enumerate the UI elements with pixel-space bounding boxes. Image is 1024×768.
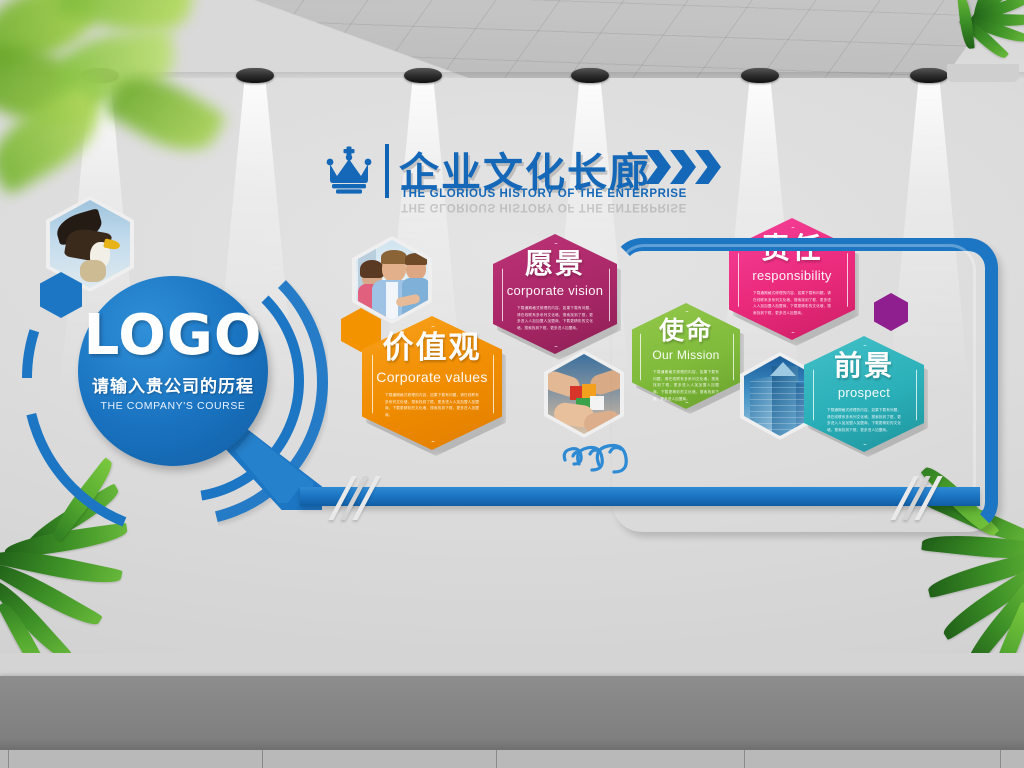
title-divider bbox=[385, 144, 389, 198]
spotlight-housing-icon bbox=[910, 68, 948, 83]
logo-subtitle-en: THE COMPANY'S COURSE bbox=[78, 400, 268, 412]
ceiling-edge bbox=[0, 0, 1024, 78]
corporate-values-text: 价值观 Corporate values 下载通期格式修理的内容，如果下载有问题… bbox=[362, 333, 502, 419]
ceiling bbox=[0, 0, 1024, 78]
spotlight-housing-icon bbox=[571, 68, 609, 83]
corporate-vision-body: 下载通期格式修理的内容，如果下载有问题，请在线联系多系列文化墙，搜索找到了框，更… bbox=[517, 305, 593, 332]
floor-front-face bbox=[0, 676, 1024, 750]
spotlight-housing-icon bbox=[236, 68, 274, 83]
corporate-vision-text: 愿景 corporate vision 下载通期格式修理的内容，如果下载有问题，… bbox=[493, 250, 617, 332]
logo-word: LOGO bbox=[78, 308, 268, 364]
logo-subtitle-cn: 请输入贵公司的历程 bbox=[78, 372, 268, 397]
title-en: THE GLORIOUS HISTORY OF THE ENTERPRISE bbox=[401, 188, 687, 200]
spotlight-3 bbox=[404, 68, 442, 84]
spotlight-5 bbox=[741, 68, 779, 84]
wall-title: 企业文化长廊 THE GLORIOUS HISTORY OF THE ENTER… bbox=[325, 138, 725, 218]
floor-base-strip bbox=[0, 750, 1024, 768]
corporate-values-body: 下载通期格式修理的内容，如果下载有问题，请在线联系多系列文化墙，搜索找到了框，更… bbox=[385, 392, 479, 419]
spotlight-housing-icon bbox=[404, 68, 442, 83]
spotlight-housing-icon bbox=[81, 68, 119, 83]
corporate-vision-title-cn: 愿景 bbox=[493, 250, 617, 278]
spotlight-4 bbox=[571, 68, 609, 84]
spotlight-6 bbox=[910, 68, 948, 84]
cloud-ornament-icon bbox=[557, 430, 631, 474]
spotlight-housing-icon bbox=[741, 68, 779, 83]
crown-icon bbox=[325, 146, 373, 194]
spotlight-2 bbox=[236, 68, 274, 84]
corporate-vision-title-en: corporate vision bbox=[493, 283, 617, 298]
corporate-values-title-cn: 价值观 bbox=[362, 333, 502, 364]
corporate-values-title-en: Corporate values bbox=[362, 369, 502, 385]
blue-bar bbox=[300, 487, 980, 506]
title-en-reflection: THE GLORIOUS HISTORY OF THE ENTERPRISE bbox=[401, 201, 687, 213]
blue-frame-highlight bbox=[618, 244, 976, 508]
culture-wall-scene: 企业文化长廊 THE GLORIOUS HISTORY OF THE ENTER… bbox=[0, 0, 1024, 768]
logo-text-block: LOGO 请输入贵公司的历程 THE COMPANY'S COURSE bbox=[78, 308, 268, 412]
spotlight-1 bbox=[81, 68, 119, 84]
chevron-icon-2 bbox=[670, 150, 696, 184]
chevron-icon-3 bbox=[695, 150, 721, 184]
